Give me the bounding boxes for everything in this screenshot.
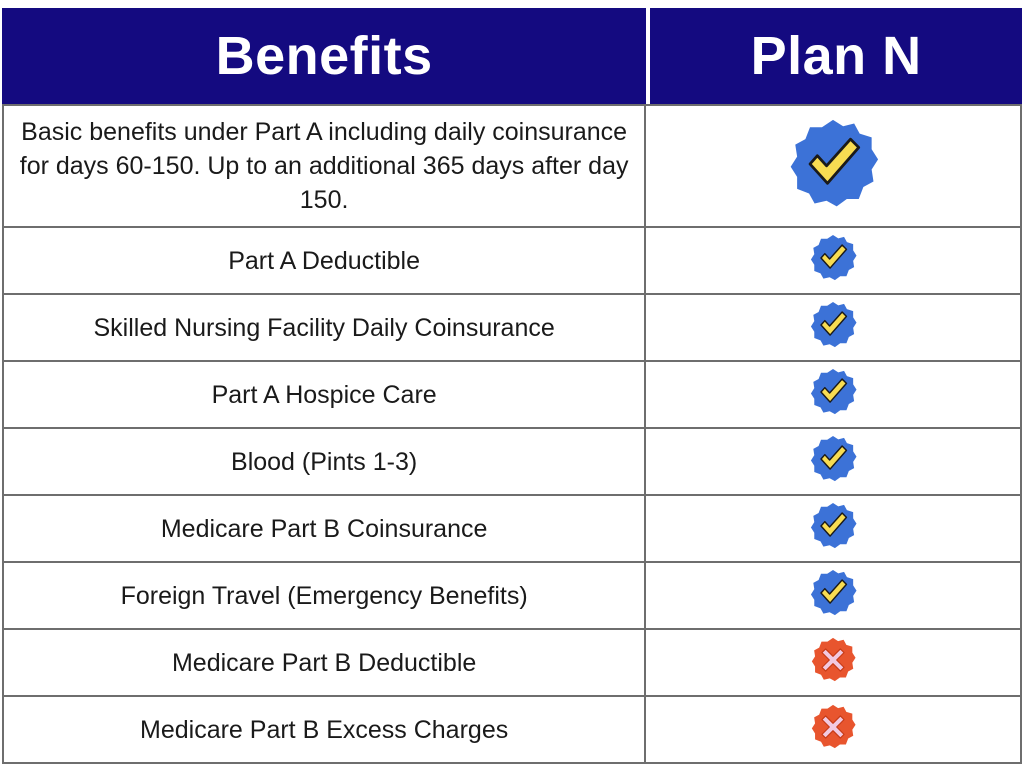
header-label-benefits: Benefits xyxy=(2,8,646,104)
benefit-label: Part A Deductible xyxy=(2,228,646,295)
table-header: Benefits Plan N xyxy=(2,8,1022,104)
benefits-comparison-page: Benefits Plan N Basic benefits under Par… xyxy=(0,0,1024,731)
header-label-plan-n: Plan N xyxy=(650,8,1022,104)
check-badge-icon xyxy=(809,569,857,617)
check-badge-icon xyxy=(809,301,857,349)
cross-badge-icon xyxy=(810,704,856,750)
check-badge-icon xyxy=(787,118,879,210)
plan-n-status-cell xyxy=(646,630,1022,697)
table-row: Skilled Nursing Facility Daily Coinsuran… xyxy=(2,295,1022,362)
table-row: Foreign Travel (Emergency Benefits) xyxy=(2,563,1022,630)
benefit-label: Medicare Part B Coinsurance xyxy=(2,496,646,563)
table-row: Medicare Part B Deductible xyxy=(2,630,1022,697)
cross-badge-icon xyxy=(810,637,856,683)
plan-n-status-cell xyxy=(646,496,1022,563)
check-badge-icon xyxy=(809,502,857,550)
table-row: Blood (Pints 1-3) xyxy=(2,429,1022,496)
plan-n-status-cell xyxy=(646,362,1022,429)
benefit-label: Skilled Nursing Facility Daily Coinsuran… xyxy=(2,295,646,362)
header-cell-benefits: Benefits xyxy=(2,8,646,104)
benefits-plan-table: Benefits Plan N Basic benefits under Par… xyxy=(2,8,1022,764)
check-badge-icon xyxy=(809,234,857,282)
plan-n-status-cell xyxy=(646,228,1022,295)
plan-n-status-cell xyxy=(646,295,1022,362)
check-badge-icon xyxy=(809,435,857,483)
benefit-label: Medicare Part B Deductible xyxy=(2,630,646,697)
table-row: Medicare Part B Coinsurance xyxy=(2,496,1022,563)
benefit-label: Foreign Travel (Emergency Benefits) xyxy=(2,563,646,630)
plan-n-status-cell xyxy=(646,429,1022,496)
table-row: Basic benefits under Part A including da… xyxy=(2,104,1022,228)
header-cell-plan-n: Plan N xyxy=(650,8,1022,104)
table-row: Part A Deductible xyxy=(2,228,1022,295)
plan-n-status-cell xyxy=(646,563,1022,630)
plan-n-status-cell xyxy=(646,104,1022,228)
table-row: Part A Hospice Care xyxy=(2,362,1022,429)
header-row: Benefits Plan N xyxy=(2,8,1022,104)
table-body: Basic benefits under Part A including da… xyxy=(2,104,1022,764)
benefit-label: Blood (Pints 1-3) xyxy=(2,429,646,496)
benefit-label: Part A Hospice Care xyxy=(2,362,646,429)
benefit-label: Basic benefits under Part A including da… xyxy=(2,104,646,228)
check-badge-icon xyxy=(809,368,857,416)
